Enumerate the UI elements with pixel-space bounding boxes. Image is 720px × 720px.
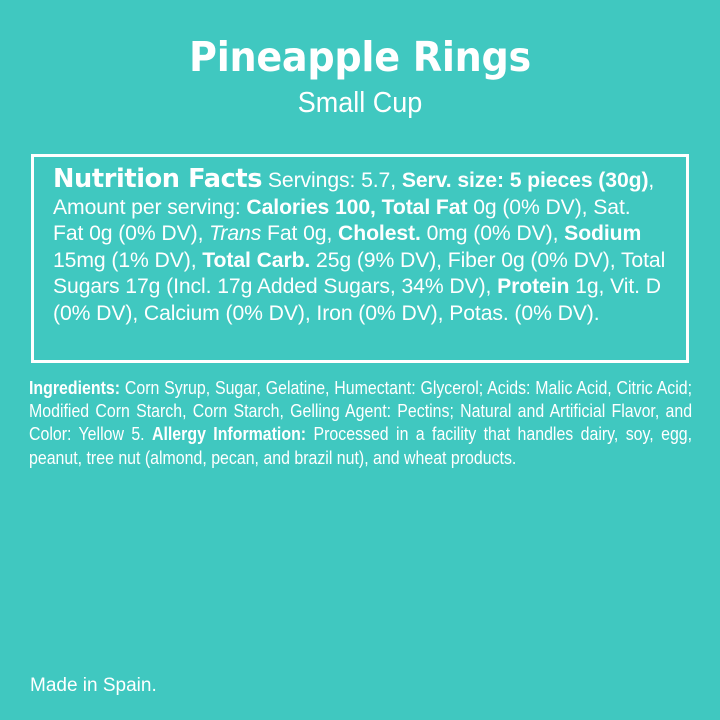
product-header: Pineapple Rings Small Cup xyxy=(0,0,720,120)
page-title: Pineapple Rings xyxy=(25,34,695,80)
servings-label: Servings: xyxy=(268,168,355,192)
calories-value: 100 xyxy=(335,195,370,219)
allergy-information-label: Allergy Information: xyxy=(152,423,306,444)
servings-value: 5.7 xyxy=(361,168,390,192)
cholesterol-value: 0mg (0% DV) xyxy=(427,221,553,245)
total-fat-label: Total Fat xyxy=(382,195,468,219)
trans-fat-value: Fat 0g xyxy=(267,221,326,245)
protein-label: Protein xyxy=(497,274,569,298)
protein-value: 1g xyxy=(575,274,598,298)
total-fat-value: 0g (0% DV) xyxy=(473,195,581,219)
serving-size-label: Serv. size: xyxy=(402,168,504,192)
nutrition-facts-heading: Nutrition Facts xyxy=(53,164,262,194)
origin-text: Made in Spain. xyxy=(30,675,157,696)
serving-size-value: 5 pieces (30g) xyxy=(510,168,649,192)
sodium-label: Sodium xyxy=(564,221,641,245)
total-carb-label: Total Carb. xyxy=(202,248,310,272)
sodium-value: 15mg (1% DV) xyxy=(53,248,191,272)
trans-fat-italic: Trans xyxy=(209,221,261,245)
total-carb-value: 25g (9% DV) xyxy=(316,248,436,272)
potassium: Potas. (0% DV). xyxy=(449,301,599,325)
nutrition-facts-panel: Nutrition Facts Servings: 5.7, Serv. siz… xyxy=(31,154,689,363)
amount-per-serving-label: Amount per serving: xyxy=(53,195,241,219)
cholesterol-label: Cholest. xyxy=(338,221,421,245)
fiber: Fiber 0g (0% DV) xyxy=(448,248,610,272)
product-subtitle: Small Cup xyxy=(25,86,695,120)
calcium: Calcium (0% DV) xyxy=(144,301,305,325)
ingredients-block: Ingredients: Corn Syrup, Sugar, Gelatine… xyxy=(29,376,692,469)
calories-label: Calories xyxy=(246,195,329,219)
origin-footer: Made in Spain. xyxy=(30,674,157,697)
iron: Iron (0% DV) xyxy=(316,301,437,325)
ingredients-label: Ingredients: xyxy=(29,377,120,398)
nutrition-facts-text: Nutrition Facts Servings: 5.7, Serv. siz… xyxy=(53,166,666,326)
